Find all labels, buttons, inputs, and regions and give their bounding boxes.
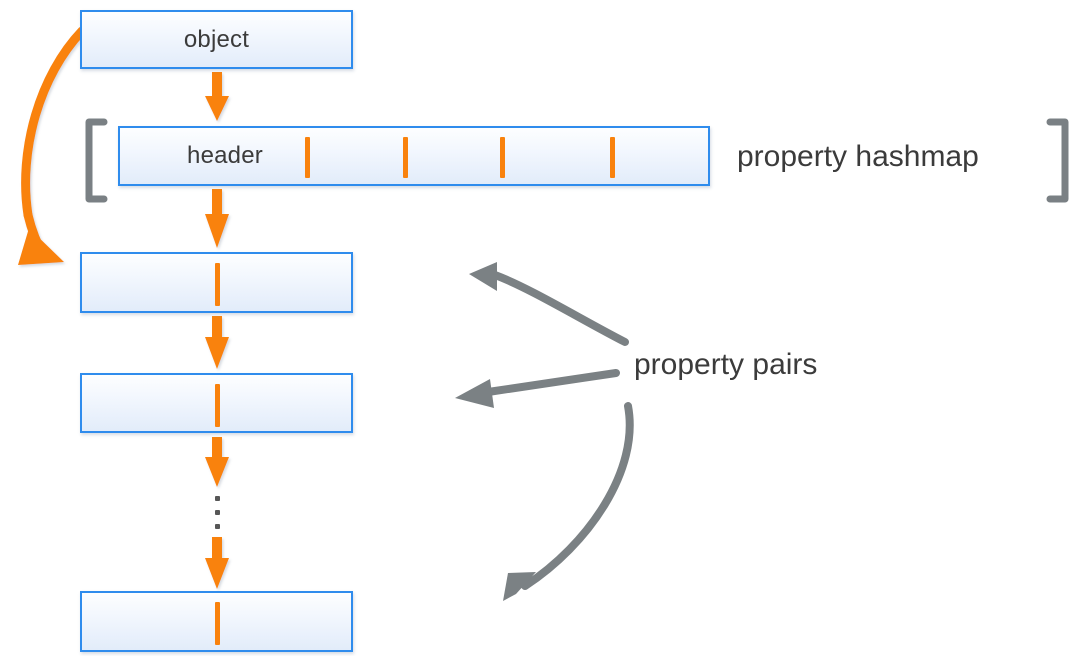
ellipsis-dot-2 xyxy=(215,510,220,515)
gray-arrow-lower xyxy=(503,406,630,601)
orange-arrow-object-to-hashmap xyxy=(205,72,229,121)
object-box-label: object xyxy=(82,26,351,54)
orange-arrow-pair2-to-ellipsis xyxy=(205,437,229,487)
hashmap-header-label: header xyxy=(120,142,330,170)
ellipsis-dot-1 xyxy=(215,496,220,501)
ellipsis-dot-3 xyxy=(215,524,220,529)
gray-arrow-middle xyxy=(455,373,616,408)
hashmap-tick-3 xyxy=(500,137,505,178)
property-hashmap-box[interactable]: header xyxy=(118,126,710,186)
orange-arrow-hashmap-to-pair1 xyxy=(205,189,229,248)
hashmap-tick-4 xyxy=(610,137,615,178)
property-pair-divider-2 xyxy=(215,384,220,427)
orange-curved-arrow xyxy=(18,31,82,265)
property-pair-divider-1 xyxy=(215,263,220,306)
bracket-left xyxy=(89,122,104,199)
property-pair-box-3[interactable] xyxy=(80,591,353,652)
diagram-canvas xyxy=(0,0,1078,656)
property-pair-divider-3 xyxy=(215,602,220,645)
property-pairs-label: property pairs xyxy=(634,348,817,382)
gray-arrow-upper xyxy=(469,262,625,342)
orange-arrow-ellipsis-to-pair3 xyxy=(205,537,229,589)
orange-arrow-pair1-to-pair2 xyxy=(205,316,229,369)
hashmap-tick-1 xyxy=(305,137,310,178)
property-hashmap-label: property hashmap xyxy=(737,140,979,174)
property-pair-box-1[interactable] xyxy=(80,252,353,313)
hashmap-tick-2 xyxy=(403,137,408,178)
object-box[interactable]: object xyxy=(80,10,353,69)
bracket-right xyxy=(1050,122,1065,199)
property-pair-box-2[interactable] xyxy=(80,373,353,433)
